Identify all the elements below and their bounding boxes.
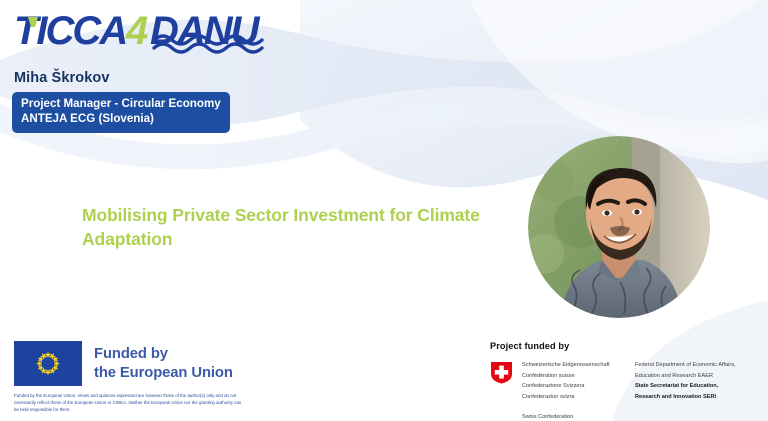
swiss-coat-of-arms-icon bbox=[490, 361, 513, 384]
speaker-name: Miha Škrokov bbox=[12, 70, 272, 86]
logo-text-ticca: TICCA bbox=[14, 10, 126, 53]
swiss-lang-fr: Confédération suisse bbox=[522, 371, 626, 382]
logo-artwork: TICCA 4 DANU bbox=[14, 10, 284, 58]
eu-funding-line2: the European Union bbox=[94, 364, 233, 382]
speaker-block: Miha Škrokov Project Manager - Circular … bbox=[12, 70, 272, 133]
swiss-dept-line1: Federal Department of Economic Affairs, bbox=[635, 360, 762, 371]
swiss-confederation-label: Swiss Confederation bbox=[522, 412, 626, 421]
eu-funding-text: Funded by the European Union bbox=[94, 345, 233, 381]
swiss-funding-heading: Project funded by bbox=[490, 341, 762, 351]
swiss-lang-rm: Confederaziun svizra bbox=[522, 392, 626, 403]
swiss-language-names: Schweizerische Eidgenossenschaft Confédé… bbox=[522, 360, 626, 421]
ticca4danu-logo: TICCA 4 DANU bbox=[14, 10, 284, 58]
swiss-lang-de: Schweizerische Eidgenossenschaft bbox=[522, 360, 626, 371]
swiss-funding-row: Schweizerische Eidgenossenschaft Confédé… bbox=[490, 360, 762, 421]
swiss-funding-block: Project funded by Schweizerische Eidgeno… bbox=[490, 341, 762, 421]
eu-funding-row: Funded by the European Union bbox=[14, 341, 264, 386]
slide-title: Mobilising Private Sector Investment for… bbox=[82, 203, 522, 251]
speaker-badge: Project Manager - Circular Economy ANTEJ… bbox=[12, 92, 230, 133]
logo-text-four: 4 bbox=[125, 10, 148, 53]
speaker-organisation: ANTEJA ECG (Slovenia) bbox=[21, 112, 221, 127]
swiss-department-text: Federal Department of Economic Affairs, … bbox=[635, 360, 762, 421]
swiss-dept-line3: State Secretariat for Education, bbox=[635, 381, 762, 392]
speaker-portrait bbox=[528, 136, 710, 318]
eu-funding-block: Funded by the European Union Funded by t… bbox=[14, 341, 264, 413]
swiss-dept-line4: Research and Innovation SERI bbox=[635, 392, 762, 403]
swiss-dept-line2: Education and Research EAER bbox=[635, 371, 762, 382]
presentation-slide: TICCA 4 DANU Miha Škrokov Project Manage… bbox=[0, 0, 768, 421]
speaker-role: Project Manager - Circular Economy bbox=[21, 97, 221, 112]
eu-disclaimer: Funded by the European Union. Views and … bbox=[14, 392, 246, 413]
eu-flag-icon bbox=[14, 341, 82, 386]
swiss-lang-it: Confederazione Svizzera bbox=[522, 381, 626, 392]
eu-funding-line1: Funded by bbox=[94, 345, 233, 363]
portrait-image bbox=[528, 136, 710, 318]
